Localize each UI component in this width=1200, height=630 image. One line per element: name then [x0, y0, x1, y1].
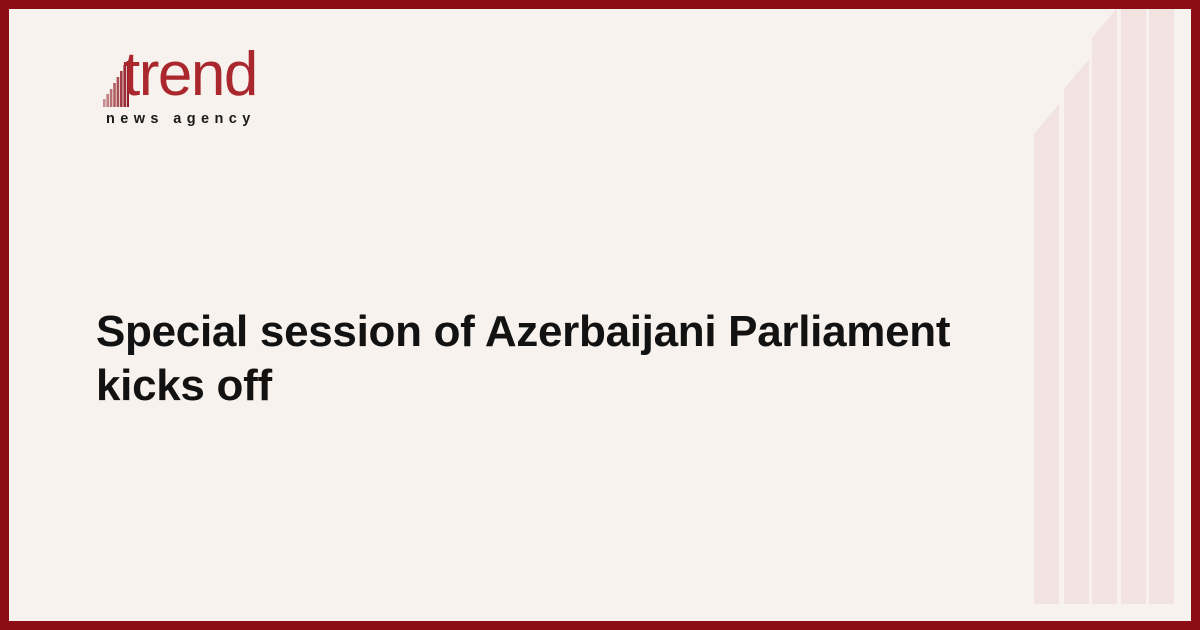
bar-slant-icon [1064, 59, 1089, 89]
ascending-bars-decoration [1026, 9, 1191, 621]
logo-wordmark-row: trend [95, 47, 355, 109]
decoration-bar-4 [1121, 9, 1146, 604]
decoration-bar-3 [1092, 9, 1117, 604]
bar-slant-icon [1034, 104, 1059, 134]
article-headline: Special session of Azerbaijani Parliamen… [96, 305, 1026, 413]
logo-wordmark: trend [123, 44, 257, 106]
logo-tagline: news agency [106, 110, 256, 128]
card-canvas: trend news agency Special session of Aze… [9, 9, 1191, 621]
bar-slant-icon [1092, 9, 1117, 38]
decoration-bar-1 [1034, 104, 1059, 604]
brand-logo[interactable]: trend news agency [95, 47, 355, 143]
decoration-bar-5 [1149, 9, 1174, 604]
article-share-card: trend news agency Special session of Aze… [0, 0, 1200, 630]
decoration-bar-2 [1064, 59, 1089, 604]
